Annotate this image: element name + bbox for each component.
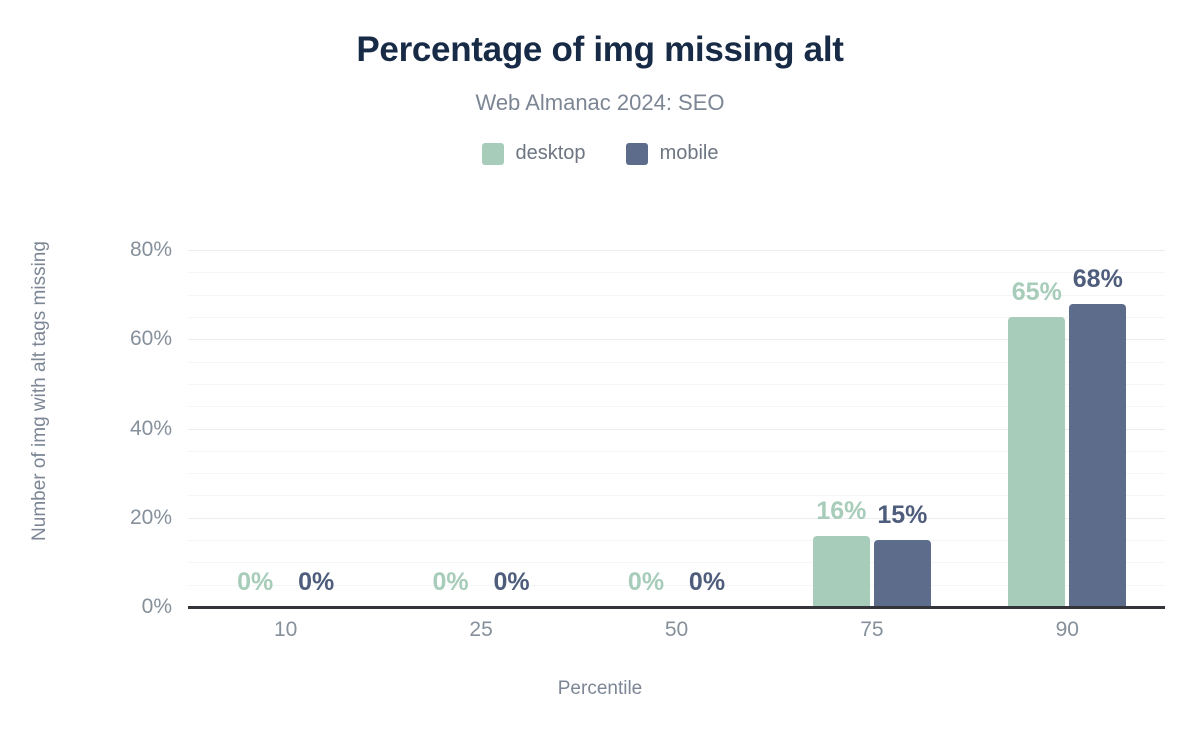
bar-value-desktop-50: 0%: [628, 568, 664, 597]
legend-swatch-desktop: [482, 143, 504, 165]
y-axis-ticks: 0%20%40%60%80%: [110, 250, 172, 607]
y-axis-tick-label: 20%: [130, 506, 172, 530]
y-axis-tick-label: 40%: [130, 417, 172, 441]
legend-item-desktop[interactable]: desktop: [482, 142, 586, 165]
x-axis-tick-label: 25: [469, 618, 492, 642]
bar-value-mobile-90: 68%: [1073, 265, 1123, 294]
x-axis-title: Percentile: [0, 678, 1200, 700]
bar-mobile-75[interactable]: [874, 540, 931, 607]
bars-layer: 0%0%0%0%0%0%16%15%65%68%: [188, 250, 1165, 607]
x-axis-tick-label: 75: [860, 618, 883, 642]
chart-subtitle: Web Almanac 2024: SEO: [0, 90, 1200, 116]
bar-desktop-75[interactable]: [813, 536, 870, 607]
bar-desktop-90[interactable]: [1008, 317, 1065, 607]
legend-label-mobile: mobile: [660, 142, 719, 165]
x-axis-line: [188, 606, 1165, 609]
bar-mobile-90[interactable]: [1069, 304, 1126, 607]
plot-area: 0%0%0%0%0%0%16%15%65%68%: [188, 250, 1165, 607]
bar-value-mobile-75: 15%: [877, 501, 927, 530]
bar-value-desktop-90: 65%: [1012, 278, 1062, 307]
bar-value-desktop-25: 0%: [433, 568, 469, 597]
chart-legend: desktop mobile: [0, 142, 1200, 165]
chart-container: Percentage of img missing alt Web Almana…: [0, 0, 1200, 742]
y-axis-tick-label: 0%: [142, 595, 172, 619]
x-axis-tick-label: 50: [665, 618, 688, 642]
y-axis-tick-label: 80%: [130, 238, 172, 262]
bar-value-desktop-10: 0%: [237, 568, 273, 597]
bar-value-mobile-10: 0%: [298, 568, 334, 597]
page-title: Percentage of img missing alt: [0, 30, 1200, 70]
bar-value-mobile-50: 0%: [689, 568, 725, 597]
y-axis-tick-label: 60%: [130, 327, 172, 351]
y-axis-title: Number of img with alt tags missing: [29, 226, 51, 556]
legend-swatch-mobile: [626, 143, 648, 165]
legend-item-mobile[interactable]: mobile: [626, 142, 719, 165]
legend-label-desktop: desktop: [516, 142, 586, 165]
x-axis-tick-label: 90: [1056, 618, 1079, 642]
x-axis-tick-label: 10: [274, 618, 297, 642]
bar-value-mobile-25: 0%: [494, 568, 530, 597]
x-axis-ticks: 1025507590: [188, 618, 1165, 652]
bar-value-desktop-75: 16%: [816, 497, 866, 526]
